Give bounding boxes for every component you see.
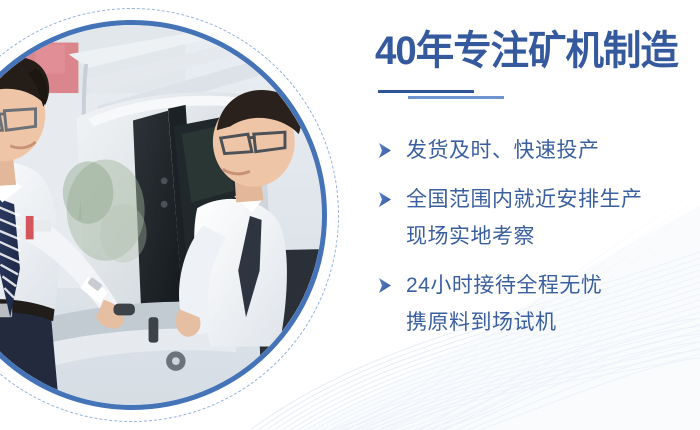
triangle-right-icon xyxy=(378,192,392,207)
two-businessmen-at-van-photo xyxy=(0,25,322,405)
photo-cluster xyxy=(0,8,345,428)
feature-list: 发货及时、快速投产 全国范围内就近安排生产 现场实地考察 xyxy=(372,132,700,353)
text-content: 40年专注矿机制造 发货及时、快速投产 xyxy=(372,0,700,430)
feature-item-1: 发货及时、快速投产 xyxy=(372,132,700,169)
headline-divider xyxy=(372,88,572,102)
feature-line: 现场实地考察 xyxy=(406,218,700,255)
triangle-right-icon xyxy=(378,278,392,293)
feature-line: 全国范围内就近安排生产 xyxy=(406,181,700,218)
headline: 40年专注矿机制造 xyxy=(375,28,684,74)
divider-line-dark xyxy=(378,90,474,93)
promo-banner: 40年专注矿机制造 发货及时、快速投产 xyxy=(0,0,700,430)
feature-line: 发货及时、快速投产 xyxy=(406,132,700,169)
triangle-right-icon xyxy=(378,143,392,158)
feature-item-3: 24小时接待全程无忧 携原料到场试机 xyxy=(372,267,700,341)
divider-line-light xyxy=(408,96,504,99)
feature-line: 24小时接待全程无忧 xyxy=(406,267,700,304)
feature-item-2: 全国范围内就近安排生产 现场实地考察 xyxy=(372,181,700,255)
feature-line: 携原料到场试机 xyxy=(406,304,700,341)
